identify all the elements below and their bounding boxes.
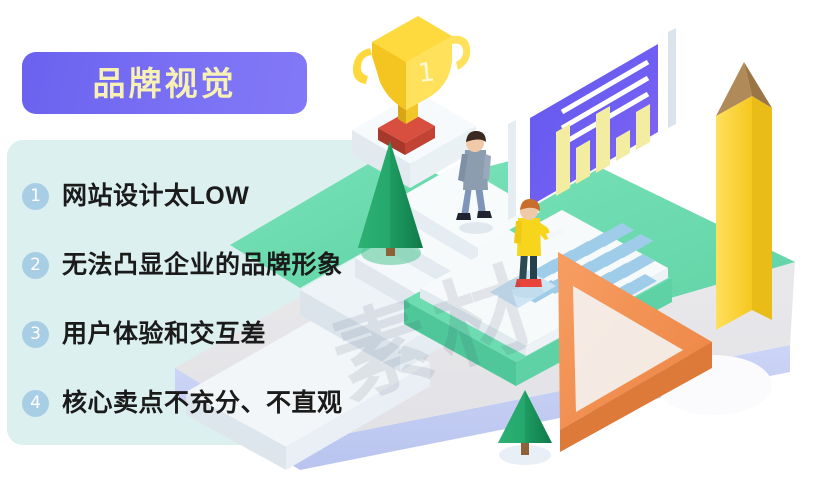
- chart-bar: [556, 124, 570, 196]
- pencil: [716, 62, 772, 342]
- list-item-label: 用户体验和交互差: [62, 322, 266, 347]
- list-item: 4 核心卖点不充分、不直观: [22, 390, 343, 417]
- list-item: 2 无法凸显企业的品牌形象: [22, 252, 343, 279]
- chart-bar: [616, 130, 630, 161]
- screenshot-canvas: 1: [0, 0, 823, 500]
- chart-header-lines: [562, 46, 648, 144]
- triangle-ruler: [536, 240, 712, 452]
- chart-bars: [556, 104, 650, 196]
- title-badge: 品牌视觉: [22, 52, 307, 114]
- trophy-rank-label: 1: [417, 57, 437, 89]
- chart-bar: [596, 106, 610, 173]
- list-item: 1 网站设计太LOW: [22, 183, 249, 210]
- list-item-number: 2: [22, 252, 49, 279]
- base-highlight-ellipse: [656, 355, 772, 415]
- list-item-label: 核心卖点不充分、不直观: [62, 391, 343, 416]
- chart-bar: [636, 104, 650, 150]
- list-item-number: 3: [22, 321, 49, 348]
- person-walking: [456, 131, 493, 234]
- list-item-number: 1: [22, 183, 49, 210]
- keyboard: [506, 223, 657, 316]
- list-item-label: 无法凸显企业的品牌形象: [62, 253, 343, 278]
- trackpad: [490, 270, 556, 308]
- chart-bar: [576, 140, 590, 184]
- tree-lower: [498, 390, 552, 465]
- title-badge-label: 品牌视觉: [93, 67, 237, 100]
- laptop: [404, 28, 676, 386]
- list-item-label: 网站设计太LOW: [62, 184, 249, 209]
- person-standing: [512, 199, 565, 298]
- list-item: 3 用户体验和交互差: [22, 321, 266, 348]
- trophy: 1: [353, 16, 470, 155]
- list-item-number: 4: [22, 390, 49, 417]
- chart-panel: [530, 44, 658, 206]
